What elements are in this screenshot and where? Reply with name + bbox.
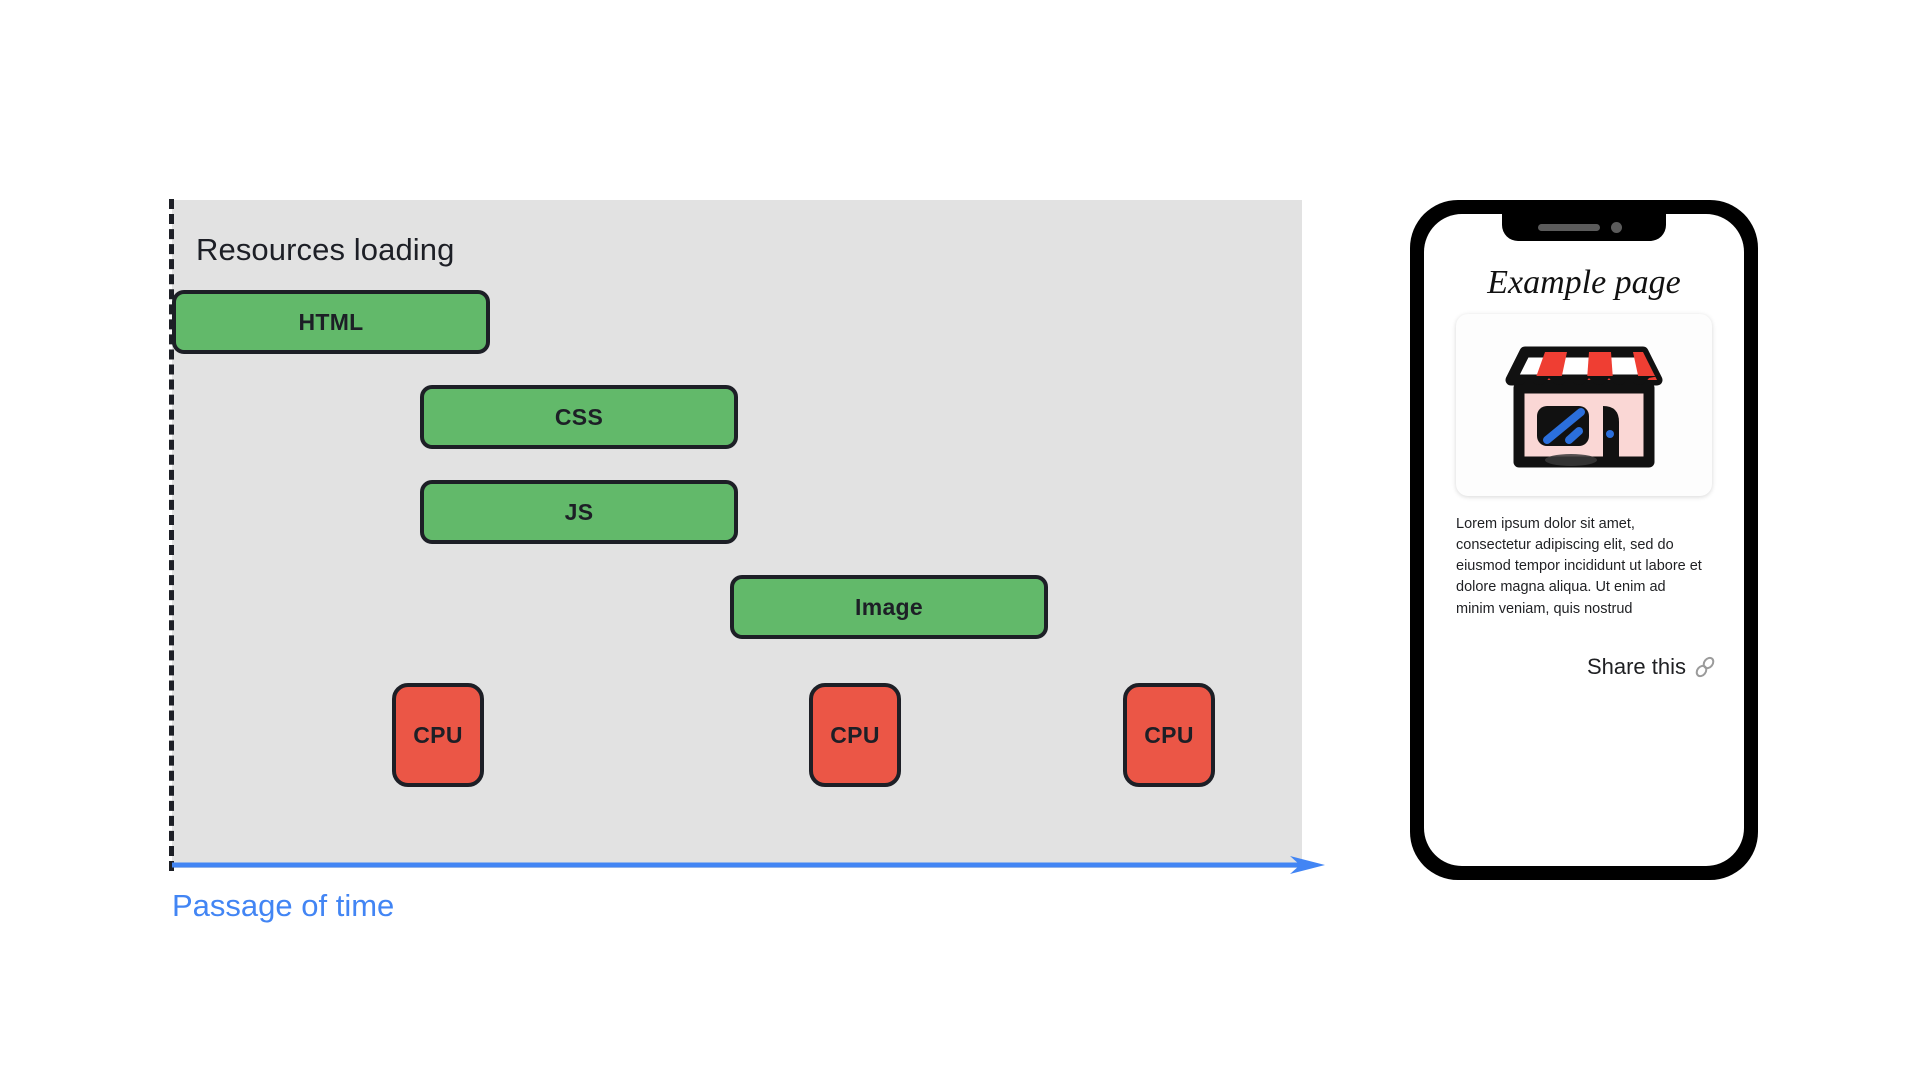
hero-image-card — [1456, 314, 1712, 496]
cpu-block-2: CPU — [809, 683, 901, 787]
cpu-block-1: CPU — [392, 683, 484, 787]
resource-bar-css: CSS — [420, 385, 738, 449]
phone-mockup: Example page — [1410, 200, 1758, 880]
resource-bar-image: Image — [730, 575, 1048, 639]
share-label: Share this — [1587, 654, 1686, 680]
front-camera-icon — [1611, 222, 1622, 233]
resources-loading-timeline: Resources loading HTML CSS JS Image CPU … — [172, 200, 1302, 868]
chain-link-icon — [1694, 656, 1716, 678]
cpu-block-3: CPU — [1123, 683, 1215, 787]
time-axis-label: Passage of time — [172, 888, 394, 924]
resource-bar-js: JS — [420, 480, 738, 544]
resource-bar-label: JS — [565, 499, 594, 526]
arrow-icon — [172, 856, 1332, 882]
phone-notch — [1502, 214, 1666, 241]
phone-screen: Example page — [1424, 214, 1744, 866]
resource-bar-label: HTML — [298, 309, 363, 336]
cpu-block-label: CPU — [413, 722, 462, 749]
cpu-block-label: CPU — [830, 722, 879, 749]
cpu-block-label: CPU — [1144, 722, 1193, 749]
resource-bar-label: Image — [855, 594, 923, 621]
body-paragraph: Lorem ipsum dolor sit amet, consectetur … — [1456, 514, 1704, 620]
resource-bar-label: CSS — [555, 404, 603, 431]
panel-title: Resources loading — [196, 232, 454, 268]
page-title: Example page — [1424, 264, 1744, 302]
time-axis-arrow — [172, 856, 1332, 882]
earpiece-speaker-icon — [1538, 224, 1600, 231]
resource-bar-html: HTML — [172, 290, 490, 354]
share-link[interactable]: Share this — [1587, 654, 1716, 680]
storefront-icon — [1489, 330, 1679, 480]
